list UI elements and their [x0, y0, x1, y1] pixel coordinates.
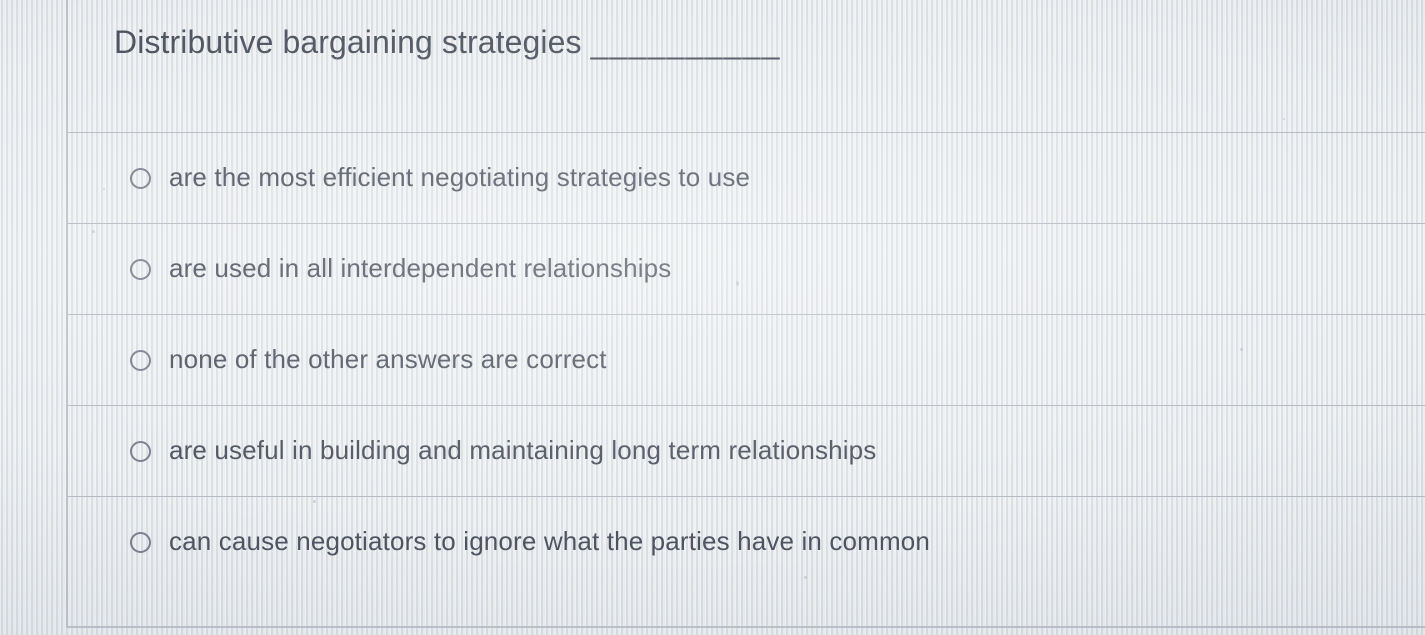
question-card: Distributive bargaining strategies _____… — [66, 0, 1425, 628]
answer-option-label: are the most efficient negotiating strat… — [169, 162, 750, 193]
answer-option-label: are used in all interdependent relations… — [169, 253, 671, 284]
answer-option-label: are useful in building and maintaining l… — [169, 435, 876, 466]
question-title: Distributive bargaining strategies _____… — [114, 24, 781, 62]
question-blank: __________ — [591, 24, 781, 60]
answer-option-3[interactable]: none of the other answers are correct — [68, 314, 1425, 405]
answer-option-5[interactable]: can cause negotiators to ignore what the… — [68, 496, 1425, 587]
answer-option-4[interactable]: are useful in building and maintaining l… — [68, 405, 1425, 496]
radio-unchecked-icon[interactable] — [130, 350, 151, 371]
radio-unchecked-icon[interactable] — [130, 441, 151, 462]
answer-options-list: are the most efficient negotiating strat… — [68, 132, 1425, 587]
answer-option-2[interactable]: are used in all interdependent relations… — [68, 223, 1425, 314]
answer-option-label: none of the other answers are correct — [169, 344, 607, 375]
question-stem: Distributive bargaining strategies — [114, 24, 582, 60]
radio-unchecked-icon[interactable] — [130, 532, 151, 553]
answer-option-label: can cause negotiators to ignore what the… — [169, 526, 930, 557]
question-page: Distributive bargaining strategies _____… — [0, 0, 1425, 635]
radio-unchecked-icon[interactable] — [130, 259, 151, 280]
radio-unchecked-icon[interactable] — [130, 168, 151, 189]
answer-option-1[interactable]: are the most efficient negotiating strat… — [68, 132, 1425, 223]
